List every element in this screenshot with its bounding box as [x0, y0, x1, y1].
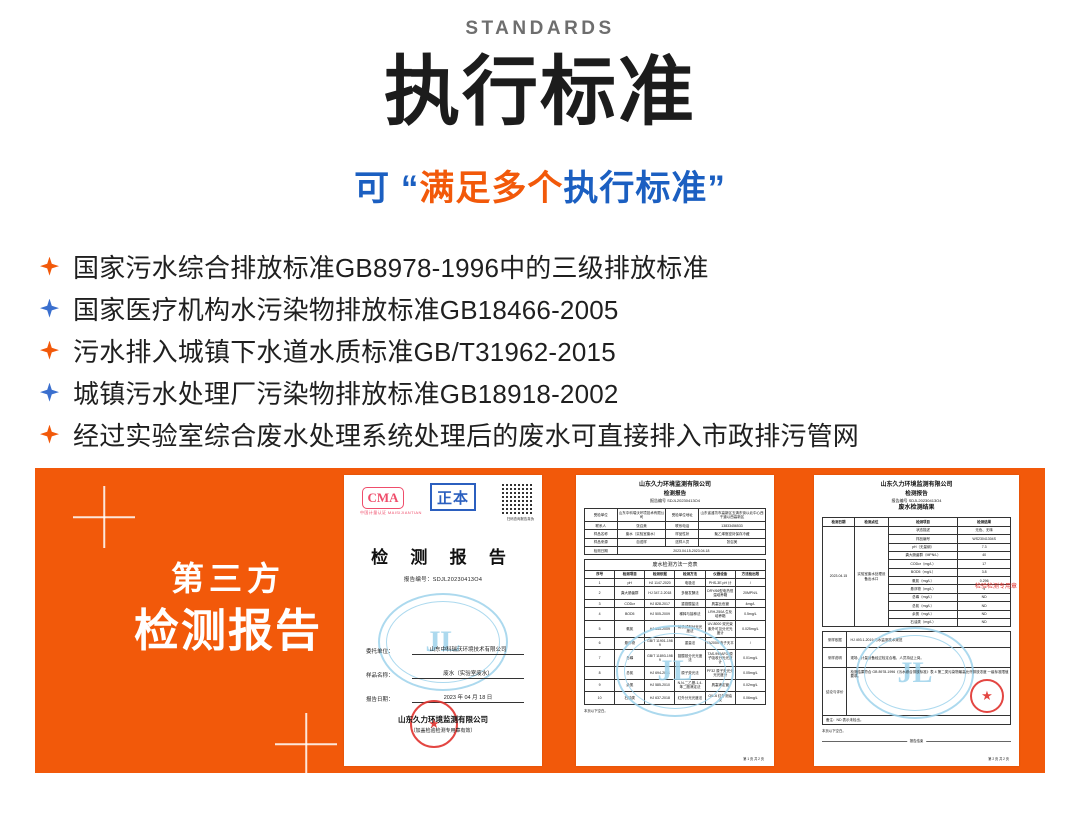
- conclusion-text: 检测结果符合 GB 8978-1996《污水综合排放标准》表 4 第二类污染物最…: [850, 670, 1008, 678]
- subtitle-suffix: 执行标准”: [563, 169, 726, 208]
- cell-basis: HJ 505-2009: [645, 608, 675, 621]
- table-row: 2023.04.15 实验室废水处理设备出水口 状态描述 无色、无味: [823, 526, 1011, 534]
- cell-item: 粪大肠菌群（MPN/L）: [888, 551, 958, 559]
- table-row: 4 BOD5 HJ 505-2009 稀释与接种法 LRH-250A 生化培养箱…: [585, 608, 766, 621]
- banner-caption: 第三方 检测报告: [113, 558, 343, 660]
- banner-caption-small: 第三方: [113, 558, 343, 599]
- table-row: 样品来源 自送样 送样人员 张召美: [585, 538, 766, 546]
- cell-method: 重铬酸盐法: [675, 599, 705, 607]
- list-item: 经过实验室综合废水处理系统处理后的废水可直接排入市政排污管网: [40, 415, 1080, 453]
- column-header: 序号: [585, 570, 615, 578]
- cell-item: BOD5（mg/L）: [888, 568, 958, 576]
- band-title: 废水检测方法一览表: [585, 560, 766, 570]
- third-party-report-banner: 第三方 检测报告 JL CMA 中国计量认证 MAISIJIANTIAN 正本 …: [35, 468, 1045, 773]
- column-header: 检测点位: [854, 518, 888, 526]
- cell-label: 样品性状: [666, 530, 699, 538]
- results-table: 检测日期 检测点位 检测项目 检测结果 2023.04.15 实验室废水处理设备…: [822, 517, 1011, 627]
- cell-method: 多管发酵法: [675, 587, 705, 600]
- cell-limit: 0.05mg/L: [735, 666, 765, 679]
- cell-basis: HJ 347.2-2018: [645, 587, 675, 600]
- company-note: （加盖检验检测专用章有效）: [344, 727, 542, 734]
- certificate-card-cover[interactable]: JL CMA 中国计量认证 MAISIJIANTIAN 正本 扫码查询报告真伪 …: [344, 475, 542, 766]
- cell-method: 稀释与接种法: [675, 608, 705, 621]
- cell-item: pH（无量纲）: [888, 543, 958, 551]
- cell-limit: 0.5mg/L: [735, 608, 765, 621]
- cell-equipment: DRY/66型电热恒温培养箱: [705, 587, 735, 600]
- cell-index: 4: [585, 608, 615, 621]
- cell-item: 氨氮（mg/L）: [888, 577, 958, 585]
- cell-equipment: LRH-250A 生化培养箱: [705, 608, 735, 621]
- cell-result: 17: [958, 560, 1011, 568]
- list-item: 国家医疗机构水污染物排放标准GB18466-2005: [40, 289, 1080, 327]
- diamond-blue-icon: [40, 383, 59, 402]
- table-header-row: 检测日期 检测点位 检测项目 检测结果: [823, 518, 1011, 526]
- standards-list: 国家污水综合排放标准GB8978-1996中的三级排放标准 国家医疗机构水污染物…: [40, 247, 1080, 453]
- cell-item: 总氮（mg/L）: [888, 602, 958, 610]
- table-row: 3 CODcr HJ 828-2017 重铬酸盐法 具塞比色管 4mg/L: [585, 599, 766, 607]
- subtitle-prefix: 可 “: [354, 169, 419, 208]
- cell-label: 样品来源: [585, 538, 618, 546]
- cell-item: 石油类（mg/L）: [888, 618, 958, 626]
- cma-logo-icon: CMA: [362, 487, 404, 509]
- column-header: 检测项目: [615, 570, 645, 578]
- field-value: 山东中科瑞沃环境技术有限公司: [412, 645, 524, 655]
- original-stamp: 正本: [430, 483, 476, 511]
- cell-label: 联系电话: [666, 521, 699, 529]
- list-item: 城镇污水处理厂污染物排放标准GB18918-2002: [40, 373, 1080, 411]
- cell-item: 状态描述: [888, 526, 958, 534]
- qr-code-icon[interactable]: [502, 482, 534, 514]
- column-header: 方法检出限: [735, 570, 765, 578]
- diamond-blue-icon: [40, 299, 59, 318]
- field-label: 委托单位：: [366, 647, 412, 655]
- note-label: 结论与评价: [823, 668, 847, 716]
- cell-item: 样品编号: [888, 535, 958, 543]
- column-header: 检测结果: [958, 518, 1011, 526]
- issuing-company: 山东久力环境监测有限公司 （加盖检验检测专用章有效）: [344, 714, 542, 734]
- table-row: 受检单位 山东中科瑞沃环境技术有限公司 受检单位地址 山东省潍坊市高新区玉清东街…: [585, 509, 766, 522]
- list-item: 国家污水综合排放标准GB8978-1996中的三级排放标准: [40, 247, 1080, 285]
- cell-point: 实验室废水处理设备出水口: [854, 526, 888, 627]
- page-subtitle: 可 “满足多个执行标准”: [0, 160, 1080, 211]
- seal-star-icon: ★: [981, 688, 993, 704]
- table-row: 样品名称 废水（实验室废水） 样品性状 聚乙烯瓶密封保存冷藏: [585, 530, 766, 538]
- table-header-row: 序号 检测项目 检测依据 检测方法 仪器设备 方法检出限: [585, 570, 766, 578]
- certificate-heading: 山东久力环境监测有限公司 检测报告 报告编号 SDJL20230413O4 废水…: [822, 481, 1011, 513]
- table-row: 2 粪大肠菌群 HJ 347.2-2018 多管发酵法 DRY/66型电热恒温培…: [585, 587, 766, 600]
- cell-limit: 20MPN/L: [735, 587, 765, 600]
- report-number: 报告编号：SDJL20230413O4: [344, 575, 542, 583]
- cell-label: 样品名称: [585, 530, 618, 538]
- field-row: 委托单位： 山东中科瑞沃环境技术有限公司: [366, 645, 524, 655]
- standard-text: 国家医疗机构水污染物排放标准GB18466-2005: [73, 290, 619, 327]
- cell-index: 2: [585, 587, 615, 600]
- cell-value: 山东省潍坊市高新区玉清东街以北中心西干道以西高新区: [699, 509, 766, 522]
- cell-item: pH: [615, 579, 645, 587]
- field-label: 样品名称：: [366, 671, 412, 679]
- watermark-seal: JL: [616, 625, 734, 717]
- cma-logo-caption: 中国计量认证 MAISIJIANTIAN: [360, 510, 422, 516]
- table-row: 结论与评价 检测结果符合 GB 8978-1996《污水综合排放标准》表 4 第…: [823, 668, 1011, 716]
- cell-basis: HJ 1147-2020: [645, 579, 675, 587]
- column-header: 检测方法: [675, 570, 705, 578]
- diamond-orange-icon: [40, 257, 59, 276]
- note-label: 采样说明: [823, 648, 847, 668]
- standard-text: 污水排入城镇下水道水质标准GB/T31962-2015: [73, 332, 616, 369]
- page-number: 第 2 页 共 2 页: [988, 756, 1009, 761]
- cell-item: 余氯（mg/L）: [888, 610, 958, 618]
- cell-limit: 4mg/L: [735, 599, 765, 607]
- cell-label: 受检单位: [585, 509, 618, 522]
- certificate-card-methods[interactable]: JL 山东久力环境监测有限公司 检测报告 报告编号 SDJL20230413O4…: [576, 475, 774, 766]
- qr-caption: 扫码查询报告真伪: [507, 516, 534, 521]
- cell-value: 山东中科瑞沃环境技术有限公司: [617, 509, 666, 522]
- cell-method: 电极法: [675, 579, 705, 587]
- note-value: 检测结果符合 GB 8978-1996《污水综合排放标准》表 4 第二类污染物最…: [847, 668, 1011, 716]
- note-label: 采样依据: [823, 632, 847, 648]
- page-title: 执行标准: [0, 52, 1080, 134]
- cell-item: BOD5: [615, 608, 645, 621]
- diamond-orange-icon: [40, 341, 59, 360]
- cell-result: 7.3: [958, 543, 1011, 551]
- banner-caption-big: 检测报告: [113, 603, 343, 659]
- field-row: 样品名称： 废水（实验室废水）: [366, 669, 524, 679]
- cell-item: 悬浮物（mg/L）: [888, 585, 958, 593]
- band-title: 废水检测结果: [822, 504, 1011, 513]
- diamond-orange-icon: [40, 425, 59, 444]
- table-row: 1 pH HJ 1147-2020 电极法 PHS-3E pH 计 /: [585, 579, 766, 587]
- field-row: 报告日期： 2023 年 04 月 18 日: [366, 693, 524, 703]
- page-header: STANDARDS 执行标准 可 “满足多个执行标准”: [0, 0, 1080, 211]
- footnote: 本页以下空白。: [822, 728, 1011, 733]
- cell-item: 总磷（mg/L）: [888, 593, 958, 601]
- cell-index: 7: [585, 650, 615, 667]
- report-number: 报告编号 SDJL20230413O4: [584, 498, 766, 504]
- cell-value: 2023.04.15-2023.04.18: [617, 547, 765, 555]
- cell-label: 检测日期: [585, 547, 618, 555]
- list-item: 污水排入城镇下水道水质标准GB/T31962-2015: [40, 331, 1080, 369]
- cell-result: 40: [958, 551, 1011, 559]
- plus-decoration-icon: [73, 486, 135, 548]
- cell-limit: 0.06mg/L: [735, 692, 765, 705]
- company-name: 山东久力环境监测有限公司: [822, 481, 1011, 490]
- cell-value: 13833456533: [699, 521, 766, 529]
- cell-result: ND: [958, 618, 1011, 626]
- report-end-divider: 报告结束: [822, 741, 1011, 742]
- cell-limit: 0.01mg/L: [735, 650, 765, 667]
- cell-item: CODcr（mg/L）: [888, 560, 958, 568]
- report-end-label: 报告结束: [907, 738, 927, 743]
- table-row: 联系人 张召美 联系电话 13833456533: [585, 521, 766, 529]
- cell-result: 3.8: [958, 568, 1011, 576]
- cell-index: 6: [585, 637, 615, 650]
- subtitle-highlight: 满足多个: [419, 169, 563, 208]
- cell-item: CODcr: [615, 599, 645, 607]
- cell-limit: 0.02mg/L: [735, 679, 765, 692]
- cell-label: 联系人: [585, 521, 618, 529]
- certificate-card-results[interactable]: JL 山东久力环境监测有限公司 检测报告 报告编号 SDJL20230413O4…: [814, 475, 1019, 766]
- cell-result: ND: [958, 593, 1011, 601]
- cell-label: 受检单位地址: [666, 509, 699, 522]
- column-header: 仪器设备: [705, 570, 735, 578]
- field-label: 报告日期：: [366, 695, 412, 703]
- cell-result: WS23041304S: [958, 535, 1011, 543]
- company-name: 山东久力环境监测有限公司: [584, 481, 766, 490]
- company-name: 山东久力环境监测有限公司: [344, 714, 542, 725]
- cell-value: 聚乙烯瓶密封保存冷藏: [699, 530, 766, 538]
- eyebrow-label: STANDARDS: [0, 0, 1080, 40]
- standard-text: 城镇污水处理厂污染物排放标准GB18918-2002: [73, 374, 619, 411]
- client-info-table: 受检单位 山东中科瑞沃环境技术有限公司 受检单位地址 山东省潍坊市高新区玉清东街…: [584, 508, 766, 555]
- certificate-heading: 山东久力环境监测有限公司 检测报告 报告编号 SDJL20230413O4: [584, 481, 766, 504]
- standard-text: 国家污水综合排放标准GB8978-1996中的三级排放标准: [73, 248, 709, 285]
- cell-index: 1: [585, 579, 615, 587]
- cell-equipment: 具塞比色管: [705, 599, 735, 607]
- column-header: 检测项目: [888, 518, 958, 526]
- cell-result: ND: [958, 602, 1011, 610]
- cell-value: 自送样: [617, 538, 666, 546]
- plus-decoration-icon: [275, 713, 337, 775]
- cell-date: 2023.04.15: [823, 526, 855, 627]
- standard-text: 经过实验室综合废水处理系统处理后的废水可直接排入市政排污管网: [73, 416, 859, 453]
- red-inspection-seal: ★: [970, 679, 1004, 713]
- cell-index: 10: [585, 692, 615, 705]
- table-row: 检测日期 2023.04.15-2023.04.18: [585, 547, 766, 555]
- cell-label: 送样人员: [666, 538, 699, 546]
- cell-item: 粪大肠菌群: [615, 587, 645, 600]
- cell-equipment: PHS-3E pH 计: [705, 579, 735, 587]
- table-band-row: 废水检测方法一览表: [585, 560, 766, 570]
- column-header: 检测依据: [645, 570, 675, 578]
- cell-basis: HJ 828-2017: [645, 599, 675, 607]
- certificate-title: 检 测 报 告: [344, 543, 542, 568]
- cell-index: 5: [585, 620, 615, 637]
- cell-limit: /: [735, 637, 765, 650]
- cell-result: ND: [958, 610, 1011, 618]
- cell-index: 9: [585, 679, 615, 692]
- cell-index: 3: [585, 599, 615, 607]
- cell-value: 张召美: [699, 538, 766, 546]
- cell-limit: 0.025mg/L: [735, 620, 765, 637]
- column-header: 检测日期: [823, 518, 855, 526]
- cell-limit: /: [735, 579, 765, 587]
- cell-value: 张召美: [617, 521, 666, 529]
- page-number: 第 1 页 共 2 页: [743, 756, 764, 761]
- cell-result: 无色、无味: [958, 526, 1011, 534]
- cell-index: 8: [585, 666, 615, 679]
- cell-value: 废水（实验室废水）: [617, 530, 666, 538]
- field-value: 废水（实验室废水）: [412, 669, 524, 679]
- side-inspection-stamp: 检验检测专用章: [975, 583, 1017, 591]
